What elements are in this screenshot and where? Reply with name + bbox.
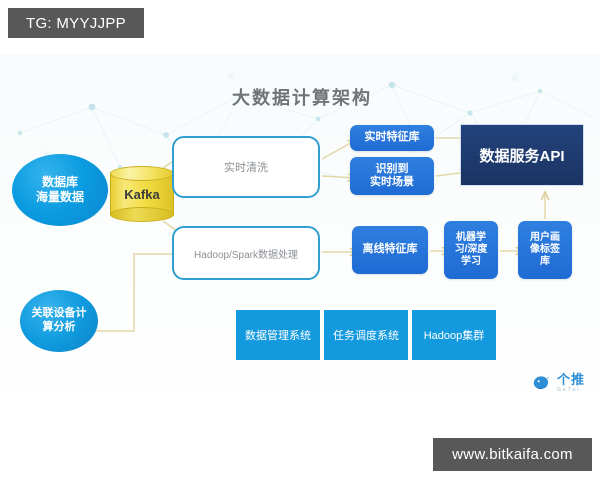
node-data-service-api[interactable]: 数据服务API [460, 124, 584, 186]
node-label: 数据服务API [479, 145, 564, 166]
node-label: Hadoop集群 [424, 327, 485, 343]
node-hadoop-spark-processing[interactable]: Hadoop/Spark数据处理 [172, 226, 320, 280]
logo-name-en: GeTui [557, 388, 585, 393]
logo-name-cn: 个推 [557, 373, 585, 386]
node-realtime-cleaning[interactable]: 实时清洗 [172, 136, 320, 198]
node-label: 识别到 实时场景 [370, 163, 414, 190]
node-kafka-queue[interactable]: Kafka [110, 166, 174, 222]
node-label: Kafka [110, 166, 174, 222]
node-label: 数据库 海量数据 [36, 175, 84, 205]
node-data-management-system[interactable]: 数据管理系统 [236, 310, 320, 360]
node-offline-feature-store[interactable]: 离线特征库 [352, 226, 428, 274]
page-title: 大数据计算架构 [232, 84, 372, 110]
node-user-profile-tag-store[interactable]: 用户画 像标签 库 [518, 221, 572, 279]
node-hadoop-cluster[interactable]: Hadoop集群 [412, 310, 496, 360]
node-associated-device-analysis[interactable]: 关联设备计 算分析 [20, 290, 98, 352]
diagram-screenshot: 大数据计算架构 数据库 海量数据 关联设备计 算分析 Kafka 实时清洗 Ha… [0, 0, 600, 480]
node-label: 用户画 像标签 库 [530, 232, 560, 269]
node-label: 关联设备计 算分析 [32, 307, 87, 335]
tg-tag-overlay: TG: MYYJJPP [8, 8, 144, 38]
node-label: 离线特征库 [363, 243, 418, 256]
node-task-scheduling-system[interactable]: 任务调度系统 [324, 310, 408, 360]
node-database-source[interactable]: 数据库 海量数据 [12, 154, 108, 226]
node-label: 机器学 习/深度 学习 [455, 232, 488, 269]
node-label: 实时特征库 [365, 131, 420, 144]
whale-icon [531, 372, 553, 394]
node-machine-learning[interactable]: 机器学 习/深度 学习 [444, 221, 498, 279]
node-label: Hadoop/Spark数据处理 [194, 246, 298, 261]
node-label: 任务调度系统 [333, 327, 399, 343]
watermark-overlay: www.bitkaifa.com [433, 438, 592, 471]
node-realtime-feature-store[interactable]: 实时特征库 [350, 125, 434, 151]
node-label: 数据管理系统 [245, 327, 311, 343]
node-label: 实时清洗 [224, 159, 268, 175]
logo-wordmark: 个推 GeTui [557, 373, 585, 393]
node-realtime-scene-recognition[interactable]: 识别到 实时场景 [350, 157, 434, 195]
getui-logo: 个推 GeTui [531, 368, 595, 398]
